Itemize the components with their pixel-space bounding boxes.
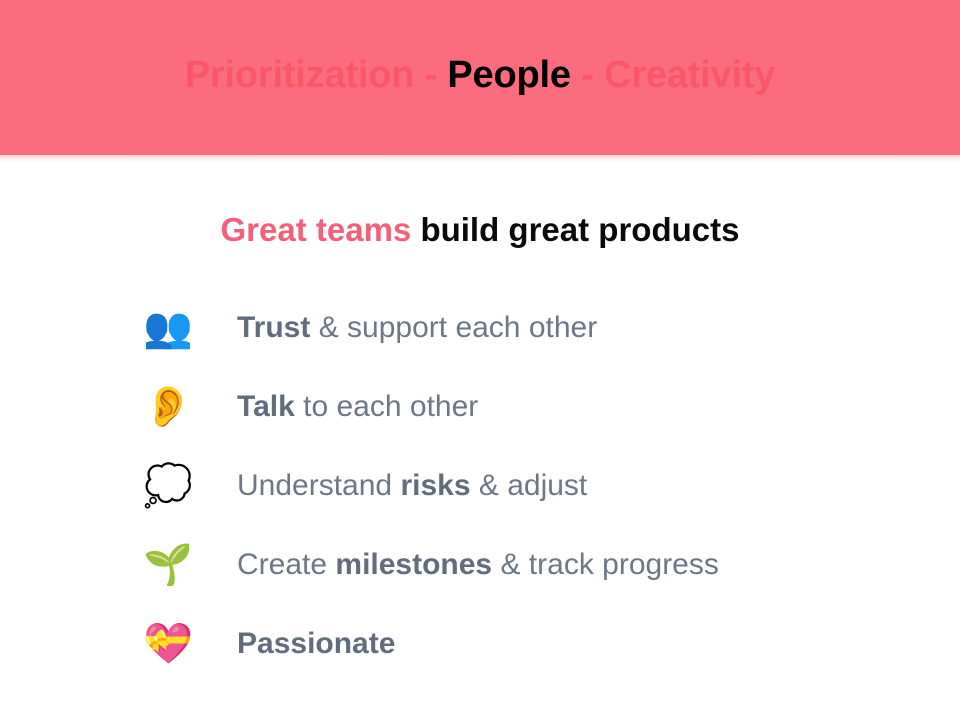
list-item-label-bold: Passionate (237, 627, 395, 660)
list-item-label: Passionate (237, 624, 395, 664)
list-item-label: Trust & support each other (237, 308, 597, 348)
section-separator-2: - (581, 54, 593, 96)
list-item-label: Create milestones & track progress (237, 545, 719, 585)
slide-subtitle: Great teams build great products (0, 207, 960, 253)
list-item-label-plain-2: & track progress (492, 548, 719, 581)
list-item-label-plain: to each other (295, 390, 478, 423)
section-label-creativity[interactable]: Creativity (604, 54, 775, 96)
heart-with-ribbon-icon: 💝 (143, 620, 197, 668)
list-item-label-bold: Trust (237, 311, 310, 344)
list-item-label-bold: Talk (237, 390, 295, 423)
section-separator-1: - (425, 54, 437, 96)
list-item-label-plain-1: Understand (237, 469, 400, 502)
list-item: 👥 Trust & support each other (0, 288, 960, 367)
slide-header-band: Prioritization - People - Creativity (0, 0, 960, 155)
list-item-label-plain-2: & adjust (471, 469, 588, 502)
section-nav-title: Prioritization - People - Creativity (0, 50, 960, 100)
list-item-label: Understand risks & adjust (237, 466, 587, 506)
list-item: 💝 Passionate (0, 604, 960, 683)
ear-icon: 👂 (143, 383, 197, 431)
thought-balloon-icon: 💭 (143, 462, 197, 510)
list-item-label: Talk to each other (237, 387, 478, 427)
list-item: 👂 Talk to each other (0, 367, 960, 446)
list-item-label-bold: milestones (335, 548, 492, 581)
bullet-list: 👥 Trust & support each other 👂 Talk to e… (0, 288, 960, 683)
busts-in-silhouette-icon: 👥 (143, 304, 197, 352)
subtitle-accent-text: Great teams (221, 211, 412, 248)
list-item: 💭 Understand risks & adjust (0, 446, 960, 525)
subtitle-plain-text: build great products (411, 211, 739, 248)
presentation-slide: Prioritization - People - Creativity Gre… (0, 0, 960, 720)
list-item-label-plain: & support each other (310, 311, 597, 344)
section-label-prioritization[interactable]: Prioritization (185, 54, 414, 96)
list-item-label-bold: risks (400, 469, 470, 502)
list-item: 🌱 Create milestones & track progress (0, 525, 960, 604)
seedling-icon: 🌱 (143, 541, 197, 589)
list-item-label-plain-1: Create (237, 548, 335, 581)
section-label-people[interactable]: People (447, 54, 570, 96)
